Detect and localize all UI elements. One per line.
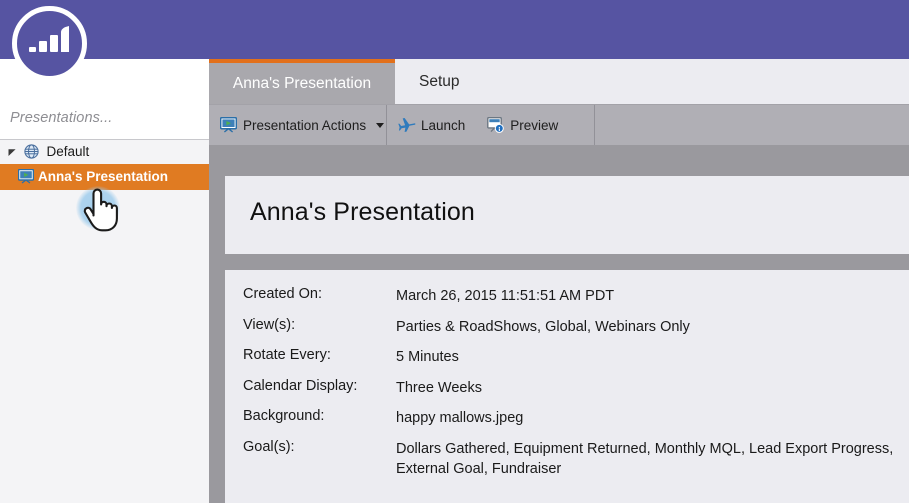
tab-annas-presentation[interactable]: Anna's Presentation bbox=[209, 59, 395, 104]
globe-icon bbox=[24, 144, 39, 159]
field-label: Rotate Every: bbox=[243, 347, 388, 363]
toolbar-item-label: Launch bbox=[421, 118, 465, 133]
search-input-placeholder[interactable]: Presentations... bbox=[10, 110, 112, 126]
toolbar: Presentation Actions Launch bbox=[209, 104, 909, 145]
field-label: Goal(s): bbox=[243, 439, 388, 455]
airplane-icon bbox=[398, 117, 415, 133]
details-field-list: Created On: March 26, 2015 11:51:51 AM P… bbox=[243, 286, 903, 469]
panel-divider-top bbox=[209, 0, 225, 59]
toolbar-group-actions: Presentation Actions bbox=[209, 105, 386, 145]
toolbar-group-run: Launch Preview bbox=[387, 105, 569, 145]
preview-info-icon bbox=[487, 117, 504, 133]
field-label: Background: bbox=[243, 408, 388, 424]
title-card: Anna's Presentation bbox=[225, 176, 909, 254]
field-label: View(s): bbox=[243, 317, 388, 333]
field-row: Created On: March 26, 2015 11:51:51 AM P… bbox=[243, 286, 903, 317]
tab-setup[interactable]: Setup bbox=[395, 59, 515, 104]
presentation-actions-button[interactable]: Presentation Actions bbox=[209, 105, 395, 145]
chevron-down-icon[interactable] bbox=[376, 123, 384, 128]
chevron-down-icon[interactable] bbox=[8, 147, 17, 156]
field-value: Three Weeks bbox=[396, 378, 901, 398]
presentation-tree: Default Anna's Presentation bbox=[0, 140, 209, 503]
tree-node-annas-presentation[interactable]: Anna's Presentation bbox=[0, 164, 209, 190]
app-window: Presentations... bbox=[0, 0, 909, 503]
presentation-screen-icon bbox=[220, 117, 237, 133]
presentation-screen-icon bbox=[18, 169, 34, 184]
details-card: Created On: March 26, 2015 11:51:51 AM P… bbox=[225, 270, 909, 503]
tab-label: Anna's Presentation bbox=[233, 75, 371, 93]
field-row: Background: happy mallows.jpeg bbox=[243, 408, 903, 439]
sidebar: Presentations... bbox=[0, 59, 209, 503]
field-row: View(s): Parties & RoadShows, Global, We… bbox=[243, 317, 903, 348]
tree-node-label: Anna's Presentation bbox=[38, 169, 168, 184]
field-label: Calendar Display: bbox=[243, 378, 388, 394]
field-row: Rotate Every: 5 Minutes bbox=[243, 347, 903, 378]
bar-chart-circle-logo-icon[interactable] bbox=[12, 6, 87, 81]
toolbar-separator-right bbox=[594, 105, 595, 145]
field-value: Parties & RoadShows, Global, Webinars On… bbox=[396, 317, 901, 337]
field-row: Goal(s): Dollars Gathered, Equipment Ret… bbox=[243, 439, 903, 470]
toolbar-item-label: Preview bbox=[510, 118, 558, 133]
preview-button[interactable]: Preview bbox=[476, 105, 569, 145]
field-label: Created On: bbox=[243, 286, 388, 302]
launch-button[interactable]: Launch bbox=[387, 105, 476, 145]
field-row: Calendar Display: Three Weeks bbox=[243, 378, 903, 409]
page-title: Anna's Presentation bbox=[250, 198, 475, 227]
field-value: Dollars Gathered, Equipment Returned, Mo… bbox=[396, 439, 901, 479]
tree-node-default[interactable]: Default bbox=[0, 140, 209, 164]
field-value: March 26, 2015 11:51:51 AM PDT bbox=[396, 286, 901, 306]
tree-node-label: Default bbox=[47, 144, 90, 159]
content-area: Anna's Presentation Created On: March 26… bbox=[225, 144, 909, 503]
toolbar-item-label: Presentation Actions bbox=[243, 118, 366, 133]
tab-label: Setup bbox=[419, 73, 460, 91]
field-value: happy mallows.jpeg bbox=[396, 408, 901, 428]
tab-strip: Anna's Presentation Setup bbox=[209, 59, 909, 104]
field-value: 5 Minutes bbox=[396, 347, 901, 367]
